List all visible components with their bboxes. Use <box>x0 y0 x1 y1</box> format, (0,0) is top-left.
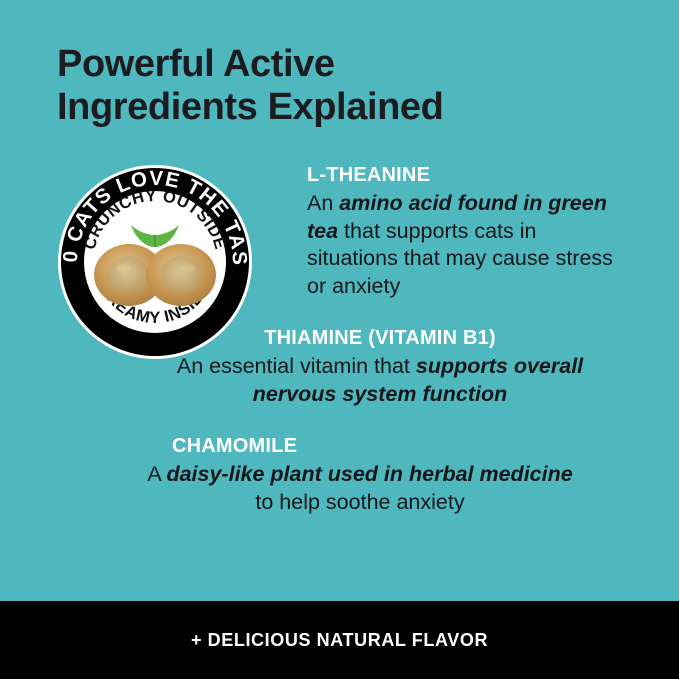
ingredient-description-chamomile: A daisy-like plant used in herbal medici… <box>140 461 580 516</box>
footer-text: + DELICIOUS NATURAL FLAVOR <box>191 630 488 651</box>
ingredient-block-l-theanine: L-THEANINE An amino acid found in green … <box>140 163 640 300</box>
footer-bar: + DELICIOUS NATURAL FLAVOR <box>0 601 679 679</box>
ingredient-name-l-theanine: L-THEANINE <box>140 163 640 188</box>
ingredient-block-thiamine: THIAMINE (VITAMIN B1) An essential vitam… <box>140 326 640 408</box>
page-title: Powerful Active Ingredients Explained <box>57 43 617 130</box>
ingredient-name-thiamine: THIAMINE (VITAMIN B1) <box>140 326 620 351</box>
ingredients-list: L-THEANINE An amino acid found in green … <box>140 163 640 538</box>
ingredient-block-chamomile: CHAMOMILE A daisy-like plant used in her… <box>140 434 640 516</box>
ingredient-name-chamomile: CHAMOMILE <box>140 434 640 459</box>
ingredients-infographic: Powerful Active Ingredients Explained <box>0 0 679 679</box>
ingredient-description-thiamine: An essential vitamin that supports overa… <box>140 353 620 408</box>
ingredient-description-l-theanine: An amino acid found in green tea that su… <box>140 190 627 300</box>
